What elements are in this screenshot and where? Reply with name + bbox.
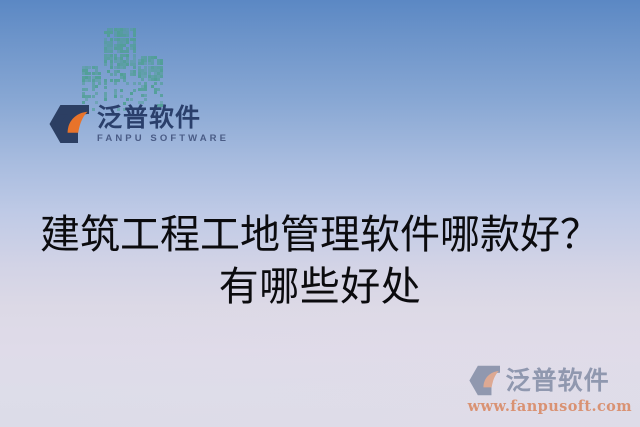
promo-banner: 泛普软件 FANPU SOFTWARE 建筑工程工地管理软件哪款好？ 有哪些好处… — [0, 0, 640, 427]
watermark-name-cn: 泛普软件 — [506, 368, 610, 393]
brand-name-en: FANPU SOFTWARE — [97, 134, 229, 144]
headline-line-2: 有哪些好处 — [0, 261, 640, 313]
headline-line-1: 建筑工程工地管理软件哪款好？ — [0, 209, 640, 261]
watermark-url: www.fanpusoft.com — [468, 398, 632, 415]
pixel-city-skyline-graphic — [78, 26, 164, 106]
fanpu-logo-mark-watermark-icon — [468, 365, 501, 396]
brand-logo: 泛普软件 FANPU SOFTWARE — [48, 104, 229, 144]
watermark: 泛普软件 www.fanpusoft.com — [468, 365, 632, 415]
brand-wordmark: 泛普软件 FANPU SOFTWARE — [97, 105, 229, 144]
fanpu-logo-mark-icon — [48, 104, 90, 144]
brand-name-cn: 泛普软件 — [97, 105, 229, 130]
watermark-logo-row: 泛普软件 — [468, 365, 632, 396]
headline: 建筑工程工地管理软件哪款好？ 有哪些好处 — [0, 209, 640, 313]
